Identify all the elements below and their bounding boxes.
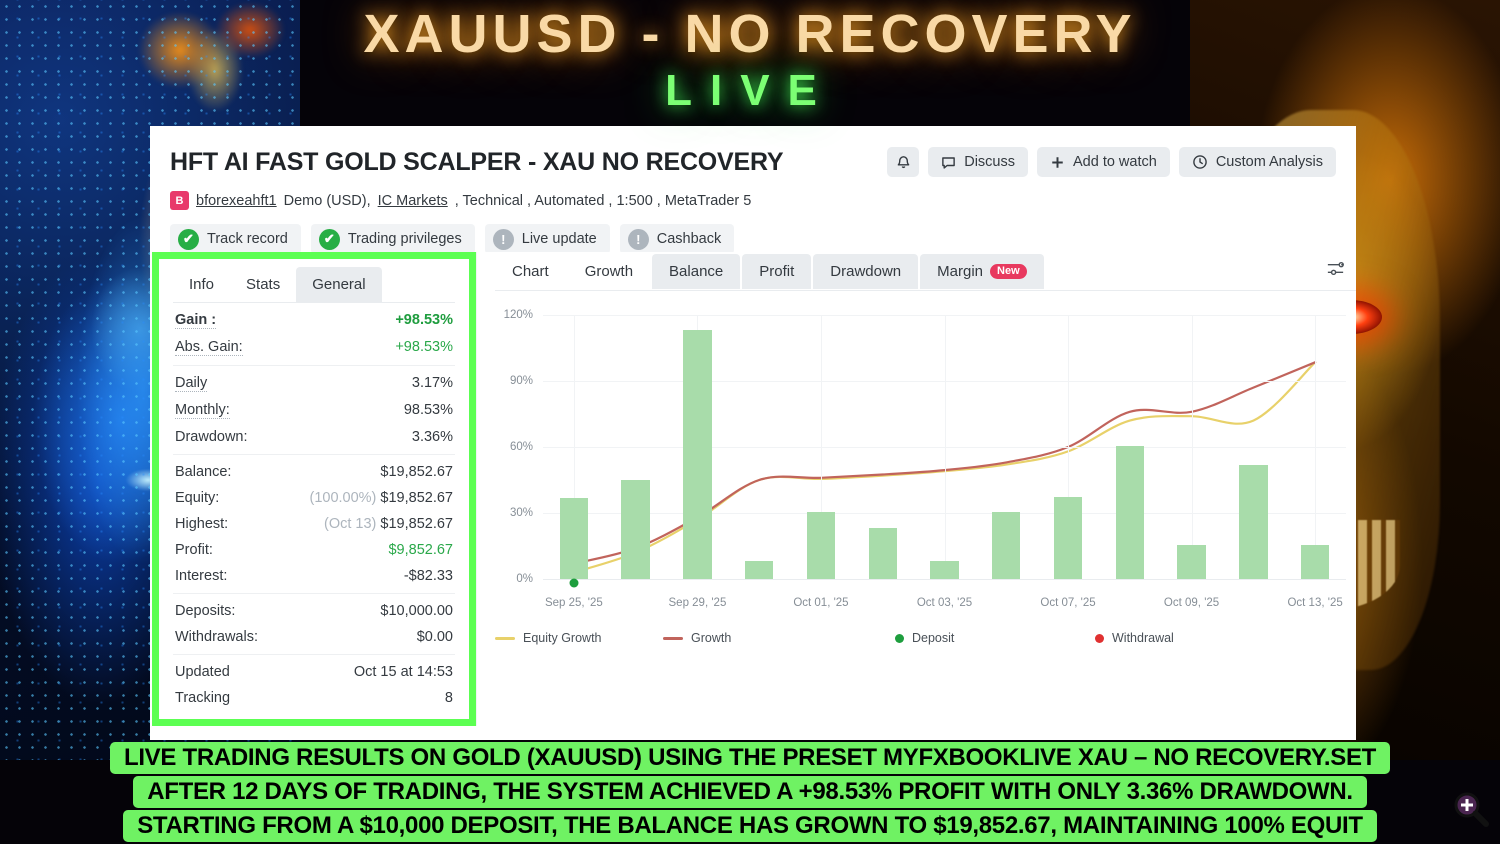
chart-bar[interactable] — [992, 512, 1020, 579]
stat-value: $0.00 — [417, 629, 453, 645]
chart-bar[interactable] — [869, 528, 897, 579]
account-details: , Technical , Automated , 1:500 , MetaTr… — [455, 193, 752, 209]
equity-percent: (100.00%) — [309, 490, 376, 506]
y-gridline — [543, 579, 1346, 580]
tab-chart-label: Chart — [512, 263, 549, 280]
stat-value: 98.53% — [404, 402, 453, 418]
stat-label: Deposits: — [175, 603, 235, 619]
legend-item[interactable]: Growth — [663, 631, 731, 645]
stat-label: Abs. Gain: — [175, 339, 243, 356]
stat-group-gain: Gain : +98.53% Abs. Gain: +98.53% — [173, 303, 455, 365]
y-axis-tick-label: 90% — [510, 375, 533, 387]
legend-line-swatch — [495, 637, 515, 640]
bell-icon — [896, 154, 911, 170]
tab-stats-label: Stats — [246, 276, 280, 293]
legend-label: Deposit — [912, 631, 954, 645]
legend-item[interactable]: Deposit — [895, 631, 954, 645]
chart-bar[interactable] — [1177, 545, 1205, 579]
banner-live-label: LIVE — [665, 66, 835, 116]
broker-link[interactable]: IC Markets — [378, 193, 448, 209]
chart-bar[interactable] — [930, 561, 958, 579]
stat-value: 3.36% — [412, 429, 453, 445]
tab-balance-label: Balance — [669, 263, 723, 280]
stat-row-highest: Highest: (Oct 13) $19,852.67 — [173, 511, 455, 537]
stat-value-wrap: (100.00%) $19,852.67 — [309, 490, 453, 506]
caption-line-1: LIVE TRADING RESULTS ON GOLD (XAUUSD) US… — [110, 742, 1390, 774]
x-gridline — [1192, 315, 1193, 579]
stat-label: Equity: — [175, 490, 219, 506]
x-axis-tick-label: Oct 13, '25 — [1287, 597, 1342, 609]
stat-value: $19,852.67 — [380, 490, 453, 506]
status-label: Track record — [207, 231, 288, 247]
tab-balance[interactable]: Balance — [652, 254, 740, 289]
stat-row-updated: Updated Oct 15 at 14:53 — [173, 659, 455, 685]
stat-row-equity: Equity: (100.00%) $19,852.67 — [173, 485, 455, 511]
myfxbook-account-card: HFT AI FAST GOLD SCALPER - XAU NO RECOVE… — [150, 126, 1356, 740]
stat-label: Interest: — [175, 568, 227, 584]
tab-drawdown[interactable]: Drawdown — [813, 254, 918, 289]
caption-line-3: STARTING FROM A $10,000 DEPOSIT, THE BAL… — [123, 810, 1377, 842]
stat-label: Daily — [175, 375, 207, 392]
deposit-marker[interactable] — [569, 579, 578, 588]
stat-value: $9,852.67 — [388, 542, 453, 558]
stat-value: $19,852.67 — [380, 464, 453, 480]
card-header: HFT AI FAST GOLD SCALPER - XAU NO RECOVE… — [170, 144, 1336, 177]
stat-label: Withdrawals: — [175, 629, 258, 645]
tab-drawdown-label: Drawdown — [830, 263, 901, 280]
status-pill-trading-privileges[interactable]: ✔ Trading privileges — [311, 224, 475, 254]
status-label: Live update — [522, 231, 597, 247]
tab-stats[interactable]: Stats — [230, 267, 296, 302]
y-axis-tick-label: 120% — [504, 309, 533, 321]
custom-analysis-label: Custom Analysis — [1216, 154, 1323, 170]
tab-profit[interactable]: Profit — [742, 254, 811, 289]
x-axis-tick-label: Oct 09, '25 — [1164, 597, 1219, 609]
stat-row-abs-gain: Abs. Gain: +98.53% — [173, 334, 455, 361]
status-pill-row: ✔ Track record ✔ Trading privileges ! Li… — [170, 224, 1336, 254]
legend-item[interactable]: Withdrawal — [1095, 631, 1174, 645]
add-to-watch-label: Add to watch — [1073, 154, 1157, 170]
comment-icon — [941, 155, 956, 170]
stat-row-daily: Daily 3.17% — [173, 370, 455, 397]
stat-row-drawdown: Drawdown: 3.36% — [173, 424, 455, 450]
legend-dot-swatch — [895, 634, 904, 643]
discuss-button[interactable]: Discuss — [928, 147, 1028, 177]
header-actions: Discuss Add to watch — [887, 144, 1336, 177]
status-pill-live-update[interactable]: ! Live update — [485, 224, 610, 254]
chart-bar[interactable] — [1054, 497, 1082, 580]
chart-bar[interactable] — [621, 480, 649, 579]
account-badge: B — [170, 191, 189, 210]
stat-value-wrap: (Oct 13) $19,852.67 — [324, 516, 453, 532]
tab-growth[interactable]: Growth — [568, 254, 650, 289]
x-gridline — [945, 315, 946, 579]
new-badge: New — [990, 264, 1027, 279]
magnifier-plus-icon — [1448, 786, 1492, 830]
legend-label: Growth — [691, 631, 731, 645]
stat-label: Monthly: — [175, 402, 230, 419]
exclamation-circle-icon: ! — [628, 229, 649, 250]
stat-value: $10,000.00 — [380, 603, 453, 619]
tab-info-label: Info — [189, 276, 214, 293]
status-label: Trading privileges — [348, 231, 462, 247]
x-axis-tick-label: Oct 03, '25 — [917, 597, 972, 609]
stat-row-monthly: Monthly: 98.53% — [173, 397, 455, 424]
stat-group-performance: Daily 3.17% Monthly: 98.53% Drawdown: 3.… — [173, 365, 455, 454]
stats-panel: Info Stats General Gain : +98.53% — [159, 259, 469, 719]
x-axis-tick-label: Sep 29, '25 — [669, 597, 727, 609]
tab-profit-label: Profit — [759, 263, 794, 280]
stat-value: +98.53% — [395, 312, 453, 328]
plus-icon — [1050, 155, 1065, 170]
page-title: HFT AI FAST GOLD SCALPER - XAU NO RECOVE… — [170, 144, 783, 177]
title-banner: XAUUSD - NO RECOVERY LIVE — [0, 0, 1500, 128]
stat-label: Drawdown: — [175, 429, 248, 445]
exclamation-circle-icon: ! — [493, 229, 514, 250]
notifications-button[interactable] — [887, 147, 919, 177]
caption-banner: LIVE TRADING RESULTS ON GOLD (XAUUSD) US… — [0, 740, 1500, 844]
stat-row-balance: Balance: $19,852.67 — [173, 459, 455, 485]
chart-bar[interactable] — [1239, 465, 1267, 579]
legend-label: Equity Growth — [523, 631, 602, 645]
x-axis-tick-label: Sep 25, '25 — [545, 597, 603, 609]
stat-label: Profit: — [175, 542, 213, 558]
stat-row-profit: Profit: $9,852.67 — [173, 537, 455, 563]
legend-dot-swatch — [1095, 634, 1104, 643]
stat-value: 3.17% — [412, 375, 453, 391]
y-axis-tick-label: 30% — [510, 507, 533, 519]
chart-bar[interactable] — [683, 330, 711, 579]
stat-value: $19,852.67 — [380, 516, 453, 532]
tab-general[interactable]: General — [296, 267, 381, 302]
chart-tab-strip: Chart Growth Balance Profit Drawdown — [495, 252, 1356, 291]
x-gridline — [1315, 315, 1316, 579]
chart-bar[interactable] — [1301, 545, 1329, 579]
chart-bar[interactable] — [807, 512, 835, 579]
stat-label: Tracking — [175, 690, 230, 706]
tab-margin[interactable]: Margin New — [920, 254, 1043, 289]
plot-area: Sep 25, '25Sep 29, '25Oct 01, '25Oct 03,… — [543, 315, 1346, 579]
custom-analysis-button[interactable]: Custom Analysis — [1179, 147, 1336, 177]
stat-row-tracking: Tracking 8 — [173, 685, 455, 711]
chart-bar[interactable] — [1116, 446, 1144, 579]
chart-panel: Chart Growth Balance Profit Drawdown — [476, 252, 1356, 726]
tab-margin-label: Margin — [937, 263, 983, 280]
stat-label: Gain : — [175, 312, 216, 329]
check-circle-icon: ✔ — [178, 229, 199, 250]
account-meta-row: B bforexeahft1 Demo (USD), IC Markets , … — [170, 191, 1336, 210]
check-circle-icon: ✔ — [319, 229, 340, 250]
discuss-label: Discuss — [964, 154, 1015, 170]
chart-bar[interactable] — [745, 561, 773, 579]
chart-settings-button[interactable] — [1315, 252, 1356, 290]
account-type: Demo (USD), — [284, 193, 371, 209]
chart-bar[interactable] — [560, 498, 588, 579]
chart-legend: Equity GrowthGrowthDepositWithdrawal — [495, 629, 1356, 647]
legend-label: Withdrawal — [1112, 631, 1174, 645]
stat-group-tracking: Updated Oct 15 at 14:53 Tracking 8 — [173, 654, 455, 715]
tab-growth-label: Growth — [585, 263, 633, 280]
caption-line-2: AFTER 12 DAYS OF TRADING, THE SYSTEM ACH… — [133, 776, 1367, 808]
stat-row-withdrawals: Withdrawals: $0.00 — [173, 624, 455, 650]
stat-row-gain: Gain : +98.53% — [173, 307, 455, 334]
stat-value: -$82.33 — [404, 568, 453, 584]
stat-row-interest: Interest: -$82.33 — [173, 563, 455, 589]
tab-chart[interactable]: Chart — [495, 254, 566, 289]
stat-row-deposits: Deposits: $10,000.00 — [173, 598, 455, 624]
y-axis-tick-label: 0% — [516, 573, 533, 585]
legend-item[interactable]: Equity Growth — [495, 631, 602, 645]
highest-date: (Oct 13) — [324, 516, 376, 532]
stat-group-account: Balance: $19,852.67 Equity: (100.00%) $1… — [173, 454, 455, 593]
banner-title: XAUUSD - NO RECOVERY — [363, 4, 1136, 64]
stat-value: Oct 15 at 14:53 — [354, 664, 453, 680]
stats-tab-strip: Info Stats General — [173, 267, 455, 303]
add-to-watch-button[interactable]: Add to watch — [1037, 147, 1170, 177]
status-label: Cashback — [657, 231, 721, 247]
x-axis-tick-label: Oct 07, '25 — [1040, 597, 1095, 609]
stat-group-funding: Deposits: $10,000.00 Withdrawals: $0.00 — [173, 593, 455, 654]
stat-label: Balance: — [175, 464, 231, 480]
y-axis-tick-label: 60% — [510, 441, 533, 453]
tab-info[interactable]: Info — [173, 267, 230, 302]
stat-label: Updated — [175, 664, 230, 680]
status-pill-cashback[interactable]: ! Cashback — [620, 224, 734, 254]
chart-tab-list: Chart Growth Balance Profit Drawdown — [495, 254, 1046, 289]
legend-line-swatch — [663, 637, 683, 640]
account-name-link[interactable]: bforexeahft1 — [196, 193, 277, 209]
x-axis-tick-label: Oct 01, '25 — [793, 597, 848, 609]
y-axis-labels: 0%30%60%90%120% — [495, 307, 539, 619]
sliders-icon — [1325, 266, 1346, 283]
growth-chart[interactable]: 0%30%60%90%120% Sep 25, '25Sep 29, '25Oc… — [495, 307, 1356, 619]
stat-label: Highest: — [175, 516, 228, 532]
status-pill-track-record[interactable]: ✔ Track record — [170, 224, 301, 254]
stat-value: +98.53% — [395, 339, 453, 355]
clock-icon — [1192, 154, 1208, 170]
tab-general-label: General — [312, 276, 365, 293]
stat-value: 8 — [445, 690, 453, 706]
stats-panel-highlight-frame: Info Stats General Gain : +98.53% — [152, 252, 476, 726]
